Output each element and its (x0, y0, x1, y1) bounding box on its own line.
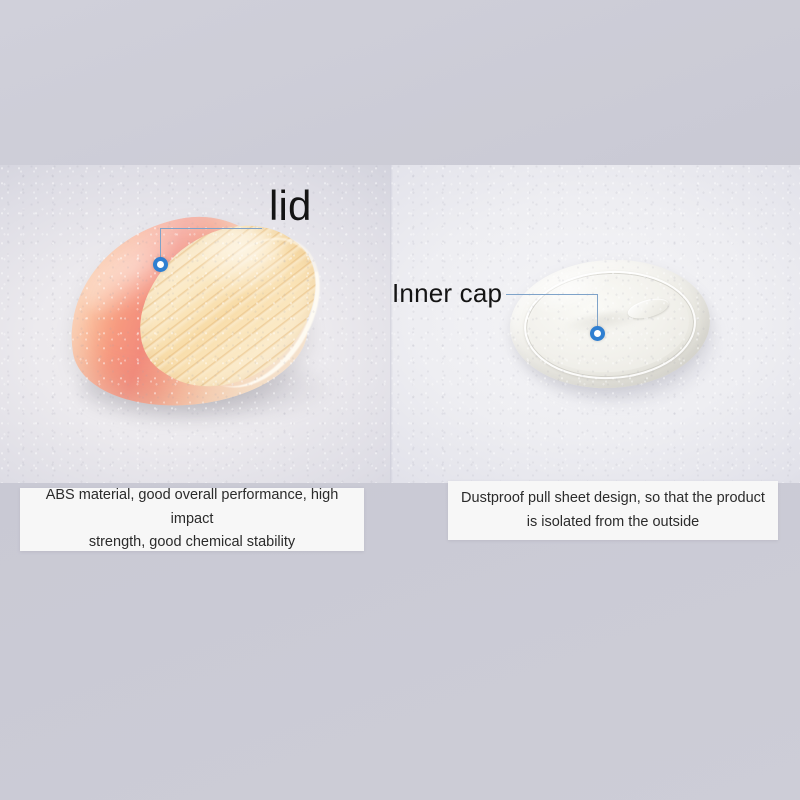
caption-right-line-2: is isolated from the outside (461, 511, 765, 534)
product-image-inner-cap-disc (510, 260, 722, 405)
caption-right-line-1: Dustproof pull sheet design, so that the… (461, 487, 765, 510)
product-photo-panel-left (0, 165, 390, 483)
caption-left-line-1: ABS material, good overall performance, … (32, 484, 352, 531)
inner-cap-callout-dot[interactable] (590, 326, 605, 341)
product-photo-panel-right (390, 165, 800, 483)
caption-box-left: ABS material, good overall performance, … (20, 488, 364, 551)
inner-cap-callout-line-horizontal (506, 294, 598, 295)
caption-left-line-2: strength, good chemical stability (32, 531, 352, 554)
lid-callout-dot[interactable] (153, 257, 168, 272)
inner-cap-callout-label: Inner cap (392, 280, 502, 306)
caption-box-right: Dustproof pull sheet design, so that the… (448, 481, 778, 540)
lid-callout-label: lid (269, 185, 312, 227)
lid-callout-line-horizontal (160, 228, 262, 229)
product-image-half-dome-shell (62, 213, 322, 428)
